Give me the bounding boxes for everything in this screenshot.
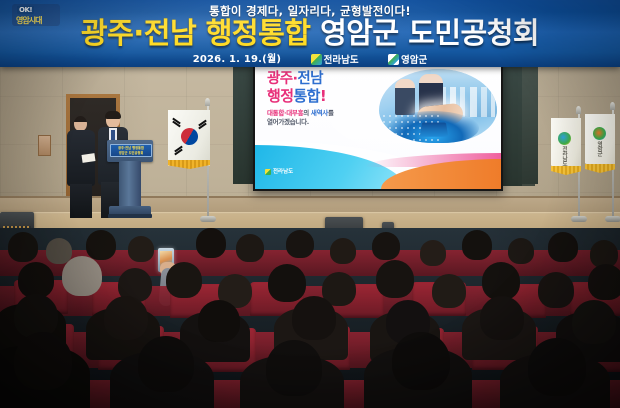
audience-head xyxy=(572,300,616,344)
jeonnam-emblem-icon xyxy=(558,132,571,145)
banner-title-white: 영암군 도민공청회 xyxy=(320,16,539,50)
event-banner: OK! 영암시대 통합이 경제다, 일자리다, 균형발전이다! 광주·전남 행정… xyxy=(0,0,620,67)
slide-footer-logo-text: 전라남도 xyxy=(273,169,293,175)
audience-head xyxy=(268,264,306,302)
audience-head xyxy=(86,230,116,260)
slide-photo-collage xyxy=(379,69,497,143)
banner-org-yeongam: 영암군 xyxy=(388,52,427,66)
slide-title-tonghap: 통합 xyxy=(293,87,319,105)
laptop-icon xyxy=(420,123,449,137)
flag-jeonnam-label: 전라남도 xyxy=(560,146,568,166)
banner-title-highlight: 광주·전남 행정통합 xyxy=(81,16,311,50)
jeonnam-emblem-icon xyxy=(311,54,322,65)
yeongam-emblem-icon xyxy=(388,54,399,65)
audience-head xyxy=(18,262,54,298)
audience-head xyxy=(138,336,194,392)
audience-head xyxy=(330,238,356,264)
photograph-scene: 광주·전남 행정통합! 대통합·대부흥의 새역사를 열어가겠습니다. 전라남도 xyxy=(0,0,620,408)
podium-foot xyxy=(108,214,152,218)
slide-title-jeonnam: 전남 xyxy=(297,71,322,87)
screen-side-panel-right xyxy=(500,58,522,186)
audience-head xyxy=(420,240,446,266)
flag-jeonnam: 전라남도 xyxy=(551,118,581,172)
podium-sign: 광주·전남 행정통합 영암군 도민공청회 xyxy=(110,144,152,157)
wall-control-panel xyxy=(38,135,51,156)
audience-head xyxy=(166,262,202,298)
banner-date: 2026. 1. 19.(월) xyxy=(193,54,281,65)
flag-stand-jeonnam xyxy=(571,216,587,222)
flag-finial-yeongam xyxy=(610,102,615,110)
slide-title-haengjeong: 행정 xyxy=(267,87,293,105)
slide-subtitle: 대통합·대부흥의 새역사를 열어가겠습니다. xyxy=(267,109,377,126)
flag-finial-kr xyxy=(205,98,210,106)
slide-title-gwangju: 광주· xyxy=(267,71,297,87)
banner-org-jeonnam-label: 전라남도 xyxy=(324,55,359,66)
audience-head xyxy=(8,232,38,262)
audience-head xyxy=(236,234,264,262)
flag-korea xyxy=(168,110,210,166)
banner-org-jeonnam: 전라남도 xyxy=(311,52,359,66)
slide-subtitle-emph2: 새역사 xyxy=(311,109,328,117)
slide-footer-logo: 전라남도 xyxy=(265,167,293,175)
aide-head xyxy=(74,116,87,131)
audience-head xyxy=(392,332,450,390)
podium-column xyxy=(119,161,141,209)
audience-head xyxy=(528,338,586,396)
speaking-podium: 광주·전남 행정통합 영암군 도민공청회 xyxy=(107,140,153,218)
flag-stand-kr xyxy=(200,216,216,222)
slide-title-line1: 광주·전남 xyxy=(267,71,323,88)
flag-finial-jeonnam xyxy=(576,106,581,114)
audience-head xyxy=(14,294,58,338)
audience-head xyxy=(128,236,154,262)
audience-head xyxy=(286,230,314,258)
audience-head xyxy=(462,230,492,260)
audience-head xyxy=(548,232,578,262)
audience-head xyxy=(538,272,574,308)
badge-line2: 영암시대 xyxy=(16,15,41,26)
aide-legs xyxy=(70,184,92,218)
audience-area xyxy=(0,228,620,408)
badge-line1: OK! xyxy=(17,6,34,14)
audience-head xyxy=(482,262,520,300)
flag-yeongam-label: 영암군 xyxy=(595,141,603,156)
stage-aide-person xyxy=(66,116,96,216)
audience-head xyxy=(508,238,534,264)
yeongam-slogan-badge: OK! 영암시대 xyxy=(12,4,60,26)
audience-head xyxy=(196,228,226,258)
screen-side-panel-left xyxy=(233,58,253,184)
audience-head xyxy=(432,274,466,308)
yeongam-emblem-icon xyxy=(593,127,606,140)
audience-head xyxy=(372,232,400,260)
banner-footer: 2026. 1. 19.(월) 전라남도 영암군 xyxy=(0,50,620,66)
audience-head xyxy=(104,296,148,340)
speaker-hair xyxy=(105,111,121,119)
collage-person-left xyxy=(395,79,415,115)
audience-head xyxy=(14,332,72,390)
audience-head xyxy=(62,256,102,296)
slide-subtitle-line2: 열어가겠습니다. xyxy=(267,118,309,126)
slide-title-exclaim: ! xyxy=(320,87,326,105)
podium-sign-line2: 영암군 도민공청회 xyxy=(111,151,151,157)
slide-title-line2: 행정통합! xyxy=(267,88,326,105)
slide-subtitle-emph1: 대통합·대부흥 xyxy=(267,109,303,117)
slide-subtitle-tail: 를 xyxy=(328,109,334,117)
banner-title: 광주·전남 행정통합 영암군 도민공청회 xyxy=(0,17,620,49)
audience-head xyxy=(266,340,322,396)
audience-head xyxy=(292,296,336,340)
banner-org-yeongam-label: 영암군 xyxy=(401,55,427,66)
flag-yeongam: 영암군 xyxy=(585,114,615,170)
slide-subtitle-mid: 의 xyxy=(303,109,311,117)
flag-stand-yeongam xyxy=(605,216,620,222)
audience-head xyxy=(480,296,524,340)
audience-head xyxy=(588,264,620,300)
banner-subtitle: 통합이 경제다, 일자리다, 균형발전이다! xyxy=(0,3,620,19)
audience-head xyxy=(198,300,240,342)
projection-screen: 광주·전남 행정통합! 대통합·대부흥의 새역사를 열어가겠습니다. 전라남도 xyxy=(253,61,503,191)
jeonnam-emblem-icon xyxy=(265,169,271,175)
podium-top: 광주·전남 행정통합 영암군 도민공청회 xyxy=(107,140,153,162)
audience-head xyxy=(376,260,414,298)
